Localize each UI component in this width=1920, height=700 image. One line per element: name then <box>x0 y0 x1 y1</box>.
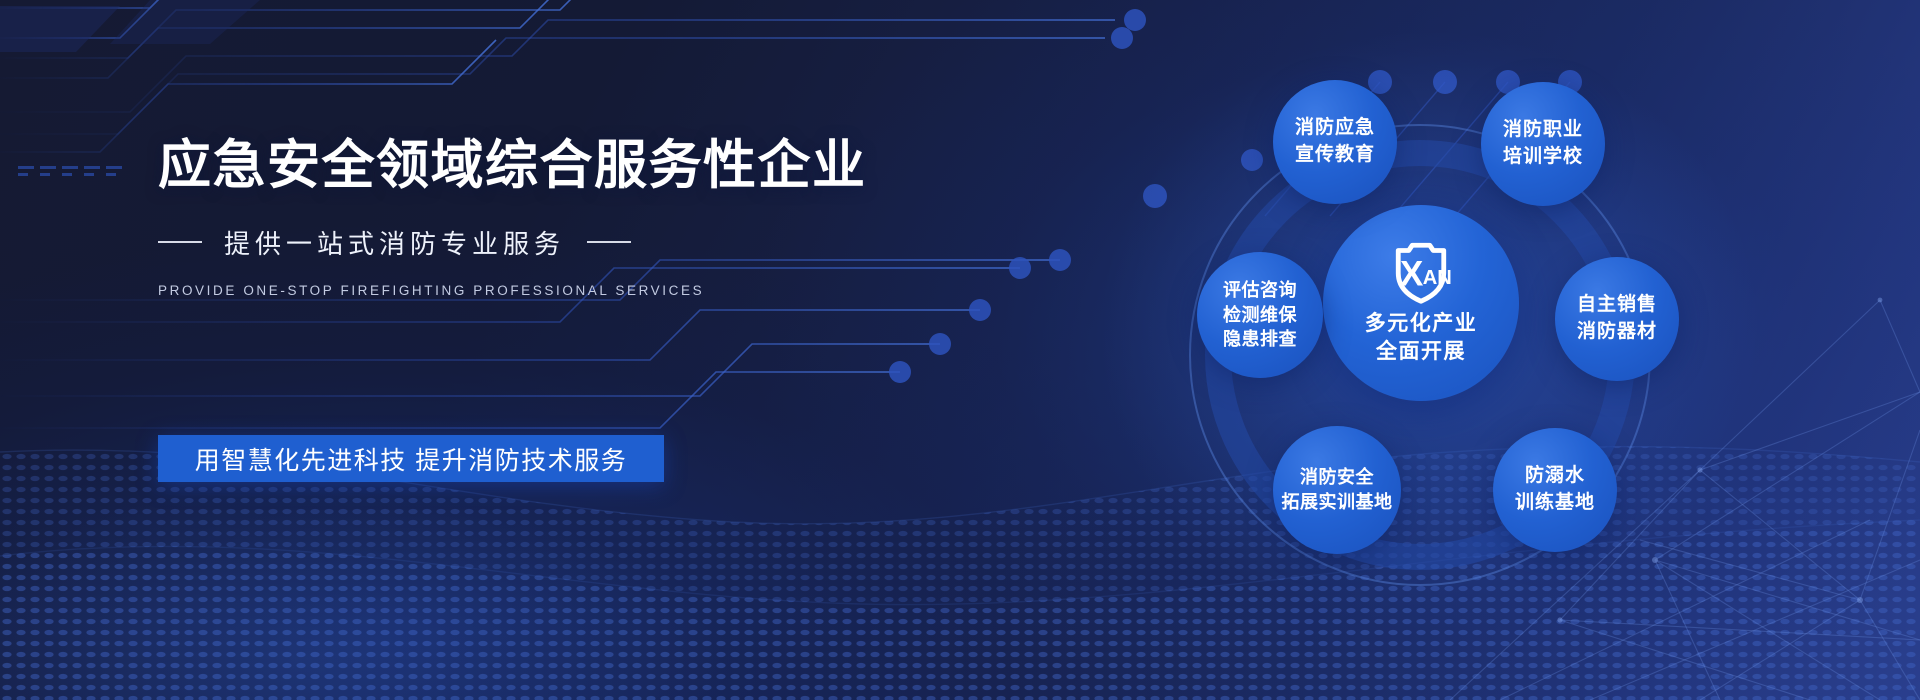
node-line-2: 训练基地 <box>1515 490 1595 517</box>
center-line-1: 多元化产业 <box>1365 310 1478 338</box>
diagram-node-fire-emergency-publicity[interactable]: 消防应急 宣传教育 <box>1273 80 1397 204</box>
svg-text:X: X <box>1400 255 1424 294</box>
diagram-node-equipment-sales[interactable]: 自主销售 消防器材 <box>1555 257 1679 381</box>
diagram-node-anti-drowning-base[interactable]: 防溺水 训练基地 <box>1493 428 1617 552</box>
subtitle-row: 提供一站式消防专业服务 <box>158 224 918 261</box>
english-subtitle: PROVIDE ONE-STOP FIREFIGHTING PROFESSION… <box>158 283 918 298</box>
rule-right-icon <box>587 241 631 243</box>
rule-left-icon <box>158 241 202 243</box>
node-line-1: 消防职业 <box>1503 117 1583 144</box>
svg-text:AN: AN <box>1423 267 1452 289</box>
node-line-2: 检测维保 <box>1223 303 1297 328</box>
banner-stage: 应急安全领域综合服务性企业 提供一站式消防专业服务 PROVIDE ONE-ST… <box>0 0 1920 700</box>
shield-xan-logo-icon: X AN <box>1386 240 1456 306</box>
services-diagram: X AN 多元化产业 全面开展 消防应急 宣传教育 消防职业 培训学校 自主销售… <box>1085 60 1765 640</box>
cta-button[interactable]: 用智慧化先进科技 提升消防技术服务 <box>158 435 664 482</box>
diagram-node-fire-vocational-school[interactable]: 消防职业 培训学校 <box>1481 82 1605 206</box>
node-line-1: 自主销售 <box>1577 292 1657 319</box>
center-line-2: 全面开展 <box>1376 338 1466 366</box>
node-line-2: 培训学校 <box>1503 144 1583 171</box>
node-line-2: 拓展实训基地 <box>1282 490 1393 515</box>
node-line-2: 宣传教育 <box>1295 142 1375 169</box>
node-line-2: 消防器材 <box>1577 319 1657 346</box>
cta-button-label: 用智慧化先进科技 提升消防技术服务 <box>195 441 627 477</box>
node-line-1: 防溺水 <box>1525 463 1585 490</box>
node-line-1: 消防安全 <box>1300 465 1374 490</box>
diagram-node-safety-training-base[interactable]: 消防安全 拓展实训基地 <box>1273 426 1401 554</box>
node-line-1: 消防应急 <box>1295 115 1375 142</box>
node-line-3: 隐患排查 <box>1223 327 1297 352</box>
diagram-center-node[interactable]: X AN 多元化产业 全面开展 <box>1323 205 1519 401</box>
headline-block: 应急安全领域综合服务性企业 提供一站式消防专业服务 PROVIDE ONE-ST… <box>158 135 918 298</box>
subtitle: 提供一站式消防专业服务 <box>224 224 565 261</box>
diagram-node-assessment-inspection[interactable]: 评估咨询 检测维保 隐患排查 <box>1197 252 1323 378</box>
node-line-1: 评估咨询 <box>1223 278 1297 303</box>
page-title: 应急安全领域综合服务性企业 <box>158 135 918 198</box>
